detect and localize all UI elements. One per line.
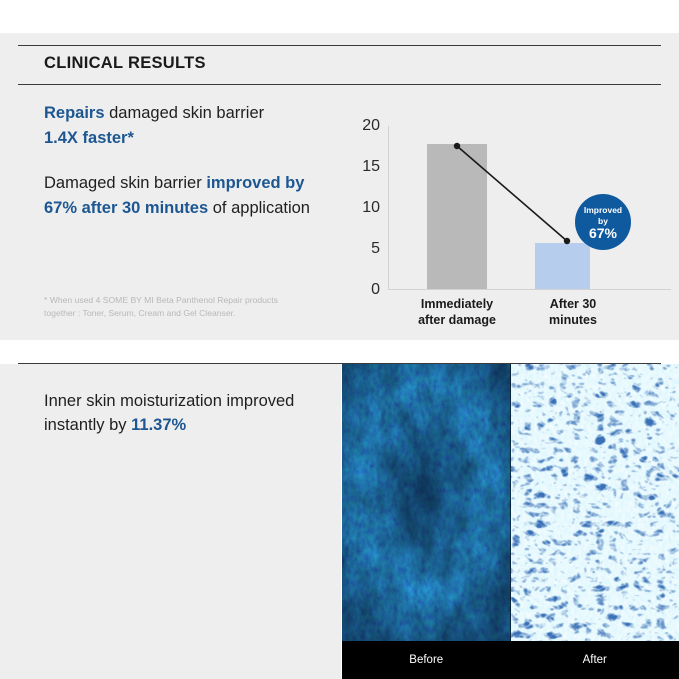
- moisturization-claim: Inner skin moisturization improved insta…: [44, 389, 314, 437]
- x-tick-label-2-line1: After 30: [550, 297, 597, 311]
- microscopy-comparison: Before After: [342, 364, 679, 679]
- improvement-badge: Improved by 67%: [575, 194, 631, 250]
- after-image: [511, 364, 679, 641]
- x-tick-label-1-line2: after damage: [418, 313, 496, 327]
- claim-repairs: Repairs damaged skin barrier 1.4X faster…: [44, 101, 334, 151]
- page-title: CLINICAL RESULTS: [44, 54, 206, 73]
- x-tick-label-2-line2: minutes: [549, 313, 597, 327]
- clinical-results-infographic: CLINICAL RESULTS Repairs damaged skin ba…: [0, 0, 679, 679]
- footnote-text: * When used 4 SOME BY MI Beta Panthenol …: [44, 294, 292, 320]
- before-label: Before: [342, 654, 511, 666]
- after-label: After: [511, 654, 679, 666]
- x-tick-label-1: Immediately after damage: [396, 296, 518, 328]
- x-tick-label-1-line1: Immediately: [421, 297, 493, 311]
- moisturization-value: 11.37%: [131, 416, 186, 434]
- x-tick-label-2: After 30 minutes: [518, 296, 628, 328]
- before-microscopy-graphic: [342, 364, 511, 641]
- before-image: [342, 364, 511, 641]
- claim-improved: Damaged skin barrier improved by 67% aft…: [44, 171, 334, 221]
- claim-faster-highlight: 1.4X faster*: [44, 129, 134, 147]
- claims-block: Repairs damaged skin barrier 1.4X faster…: [44, 101, 334, 221]
- claim-improved-post: of application: [208, 199, 310, 217]
- claim-repairs-text: damaged skin barrier: [105, 104, 265, 122]
- badge-value: 67%: [589, 228, 617, 239]
- badge-line-1: Improved: [584, 205, 622, 216]
- after-microscopy-graphic: [511, 364, 679, 641]
- divider-under-title: [18, 84, 661, 85]
- claim-improved-pre: Damaged skin barrier: [44, 174, 206, 192]
- claim-repairs-highlight: Repairs: [44, 104, 105, 122]
- divider-top: [18, 45, 661, 46]
